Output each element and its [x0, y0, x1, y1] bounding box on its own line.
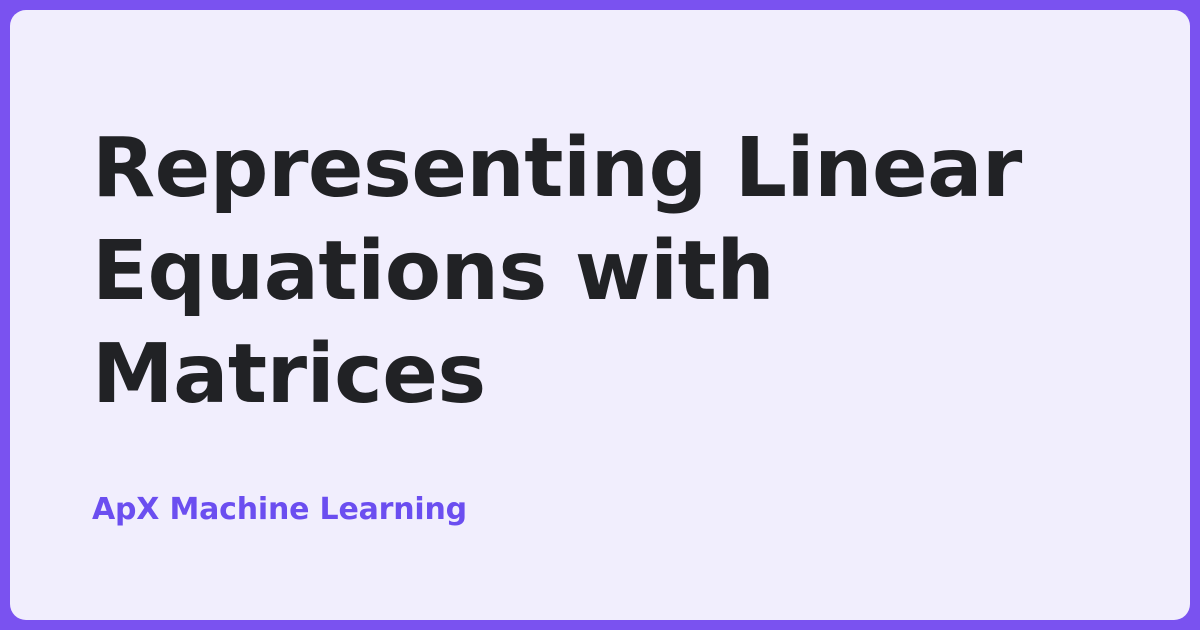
title-block: Representing Linear Equations with Matri…: [92, 118, 1108, 427]
og-card-frame: Representing Linear Equations with Matri…: [0, 0, 1200, 630]
brand-block: ApX Machine Learning: [92, 492, 467, 528]
page-title: Representing Linear Equations with Matri…: [92, 118, 1092, 427]
og-card-surface: Representing Linear Equations with Matri…: [10, 10, 1190, 620]
brand-name: ApX Machine Learning: [92, 492, 467, 528]
